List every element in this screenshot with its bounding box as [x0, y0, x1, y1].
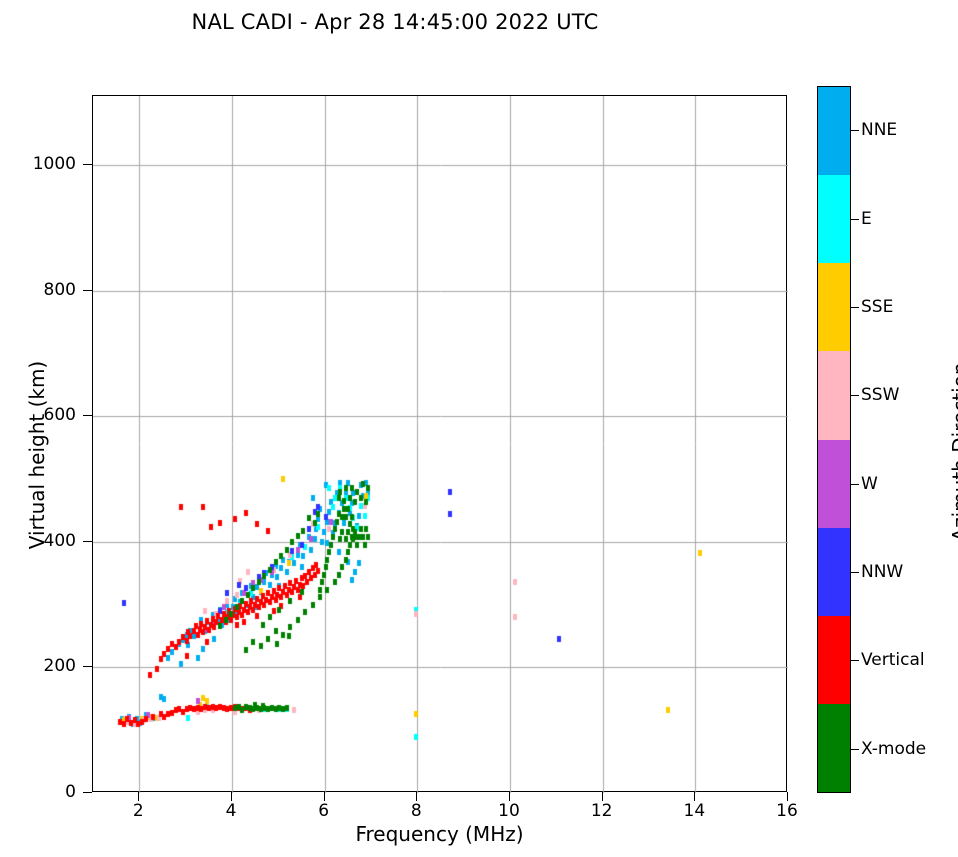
x-axis-tick-label: 4 [206, 801, 256, 821]
colorbar-label-ssw: SSW [861, 385, 899, 405]
y-axis-tick [83, 541, 92, 542]
page-title: NAL CADI - Apr 28 14:45:00 2022 UTC [0, 10, 790, 34]
colorbar-label-vertical: Vertical [861, 650, 925, 670]
colorbar-label-sse: SSE [861, 297, 893, 317]
x-axis-tick [138, 792, 139, 801]
x-axis-tick-label: 10 [484, 801, 534, 821]
ionogram-page: NAL CADI - Apr 28 14:45:00 2022 UTC 0200… [0, 0, 958, 857]
colorbar-label-nne: NNE [861, 120, 897, 140]
x-axis-tick [509, 792, 510, 801]
x-axis-label: Frequency (MHz) [92, 822, 787, 846]
x-axis-tick-label: 8 [391, 801, 441, 821]
x-axis-tick-label: 12 [577, 801, 627, 821]
x-axis-tick-label: 16 [762, 801, 812, 821]
y-axis-tick-label: 200 [30, 656, 76, 676]
y-axis-tick [83, 666, 92, 667]
colorbar-label-w: W [861, 474, 878, 494]
colorbar-label-x-mode: X-mode [861, 739, 926, 759]
x-axis-tick-label: 6 [299, 801, 349, 821]
plot-area [92, 95, 787, 792]
x-axis-tick [602, 792, 603, 801]
colorbar-tick [851, 484, 859, 485]
colorbar-tick [851, 660, 859, 661]
colorbar [817, 86, 851, 793]
colorbar-band-nnw [818, 528, 850, 616]
colorbar-band-vertical [818, 616, 850, 704]
x-axis-tick [694, 792, 695, 801]
scatter-layer [93, 96, 788, 793]
colorbar-label: Azimuth Direction [948, 302, 958, 602]
y-axis-tick [83, 415, 92, 416]
y-axis-tick [83, 290, 92, 291]
y-axis-tick-label: 1000 [30, 154, 76, 174]
colorbar-band-e [818, 175, 850, 263]
y-axis-label: Virtual height (km) [25, 305, 49, 605]
colorbar-tick [851, 395, 859, 396]
colorbar-band-x-mode [818, 704, 850, 792]
x-axis-tick [416, 792, 417, 801]
colorbar-label-nnw: NNW [861, 562, 903, 582]
x-axis-tick-label: 14 [669, 801, 719, 821]
colorbar-tick [851, 749, 859, 750]
x-axis-tick [787, 792, 788, 801]
y-axis-tick [83, 792, 92, 793]
colorbar-band-nne [818, 87, 850, 175]
colorbar-tick [851, 572, 859, 573]
colorbar-band-w [818, 440, 850, 528]
y-axis-tick-label: 0 [30, 782, 76, 802]
colorbar-tick [851, 130, 859, 131]
x-axis-tick-label: 2 [113, 801, 163, 821]
colorbar-band-sse [818, 263, 850, 351]
colorbar-tick [851, 219, 859, 220]
x-axis-tick [324, 792, 325, 801]
colorbar-band-ssw [818, 351, 850, 439]
y-axis-tick [83, 164, 92, 165]
x-axis-tick [231, 792, 232, 801]
colorbar-label-e: E [861, 209, 872, 229]
colorbar-tick [851, 307, 859, 308]
y-axis-tick-label: 800 [30, 280, 76, 300]
